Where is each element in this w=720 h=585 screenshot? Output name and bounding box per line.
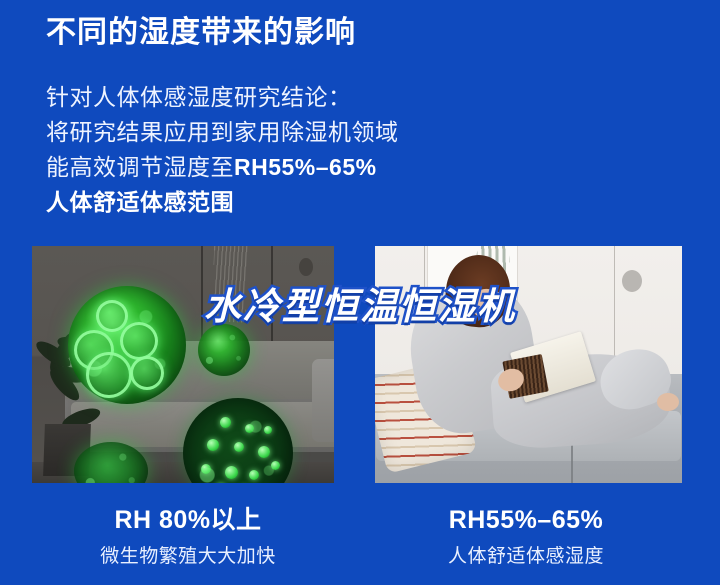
overlay-product-title: 水冷型恒温恒湿机	[0, 276, 720, 330]
wall-knob-icon	[299, 258, 313, 276]
body-line-4: 人体舒适体感范围	[46, 185, 666, 220]
sofa-armrest	[312, 359, 334, 441]
body-copy: 针对人体体感湿度研究结论： 将研究结果应用到家用除湿机领域 能高效调节湿度至RH…	[46, 80, 666, 220]
microbe-sphere-small	[198, 324, 250, 376]
caption-right: RH55%–65% 人体舒适体感湿度	[366, 506, 686, 568]
body-line-3: 能高效调节湿度至RH55%–65%	[46, 150, 666, 185]
caption-right-title: RH55%–65%	[366, 506, 686, 535]
body-line-3-highlight: RH55%–65%	[234, 154, 377, 180]
body-line-3-prefix: 能高效调节湿度至	[46, 154, 234, 180]
body-line-2: 将研究结果应用到家用除湿机领域	[46, 115, 666, 150]
caption-left-title: RH 80%以上	[28, 506, 348, 535]
body-line-1: 针对人体体感湿度研究结论：	[46, 80, 666, 115]
person-foot	[657, 393, 679, 411]
caption-left: RH 80%以上 微生物繁殖大大加快	[28, 506, 348, 568]
caption-right-subtitle: 人体舒适体感湿度	[366, 541, 686, 568]
page-title: 不同的湿度带来的影响	[46, 14, 356, 52]
caption-left-subtitle: 微生物繁殖大大加快	[28, 541, 348, 568]
humidity-infographic-poster: 不同的湿度带来的影响 针对人体体感湿度研究结论： 将研究结果应用到家用除湿机领域…	[0, 0, 720, 585]
